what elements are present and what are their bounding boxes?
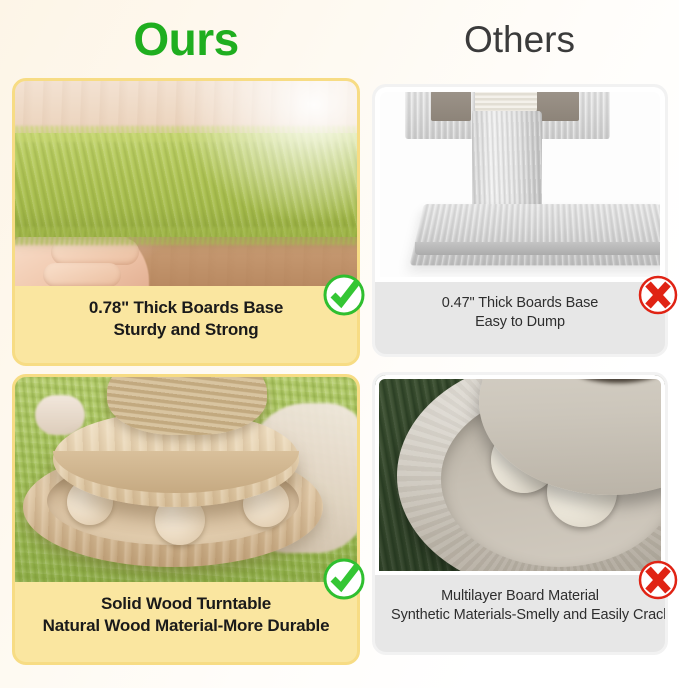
check-icon — [322, 557, 366, 601]
others-card-thickness: 0.47" Thick Boards Base Easy to Dump — [372, 84, 668, 357]
ours-thickness-photo — [15, 81, 357, 286]
caption-line-1: 0.47" Thick Boards Base — [391, 294, 649, 313]
others-thickness-photo — [375, 87, 665, 282]
header-others: Others — [372, 0, 667, 78]
others-title: Others — [464, 21, 575, 58]
ours-turntable-photo — [15, 377, 357, 582]
others-card-turntable: Multilayer Board Material Synthetic Mate… — [372, 372, 668, 655]
cat-tree-thin-base — [409, 204, 665, 265]
base-fur-texture — [409, 204, 665, 265]
ours-thickness-caption: 0.78" Thick Boards Base Sturdy and Stron… — [15, 286, 357, 351]
sisal-rope-ball — [107, 377, 267, 435]
base-thin-edge — [415, 242, 665, 255]
caption-line-2: Synthetic Materials-Smelly and Easily Cr… — [391, 606, 649, 625]
check-icon — [322, 273, 366, 317]
sisal-rope-wrap — [475, 87, 537, 113]
finger-2 — [43, 263, 121, 286]
others-turntable-caption: Multilayer Board Material Synthetic Mate… — [375, 575, 665, 638]
caption-line-2: Natural Wood Material-More Durable — [23, 615, 349, 637]
others-turntable-photo — [375, 375, 665, 575]
caption-line-1: Solid Wood Turntable — [23, 593, 349, 615]
shelf-shadow-left — [431, 91, 471, 121]
comparison-header-row: Ours Others — [0, 0, 679, 78]
ours-card-thickness: 0.78" Thick Boards Base Sturdy and Stron… — [12, 78, 360, 366]
caption-line-1: Multilayer Board Material — [391, 587, 649, 606]
others-thickness-caption: 0.47" Thick Boards Base Easy to Dump — [375, 282, 665, 345]
ours-card-turntable: Solid Wood Turntable Natural Wood Materi… — [12, 374, 360, 665]
caption-line-2: Sturdy and Strong — [23, 319, 349, 341]
post-fur-texture — [472, 111, 542, 216]
caption-line-2: Easy to Dump — [391, 313, 649, 332]
cross-icon — [636, 273, 679, 317]
cat-tree-post — [472, 111, 542, 216]
cross-icon — [636, 558, 679, 602]
header-ours: Ours — [12, 0, 360, 78]
ours-turntable-caption: Solid Wood Turntable Natural Wood Materi… — [15, 582, 357, 647]
caption-line-1: 0.78" Thick Boards Base — [23, 297, 349, 319]
highlight-glare — [167, 81, 357, 231]
ours-title: Ours — [133, 16, 238, 62]
